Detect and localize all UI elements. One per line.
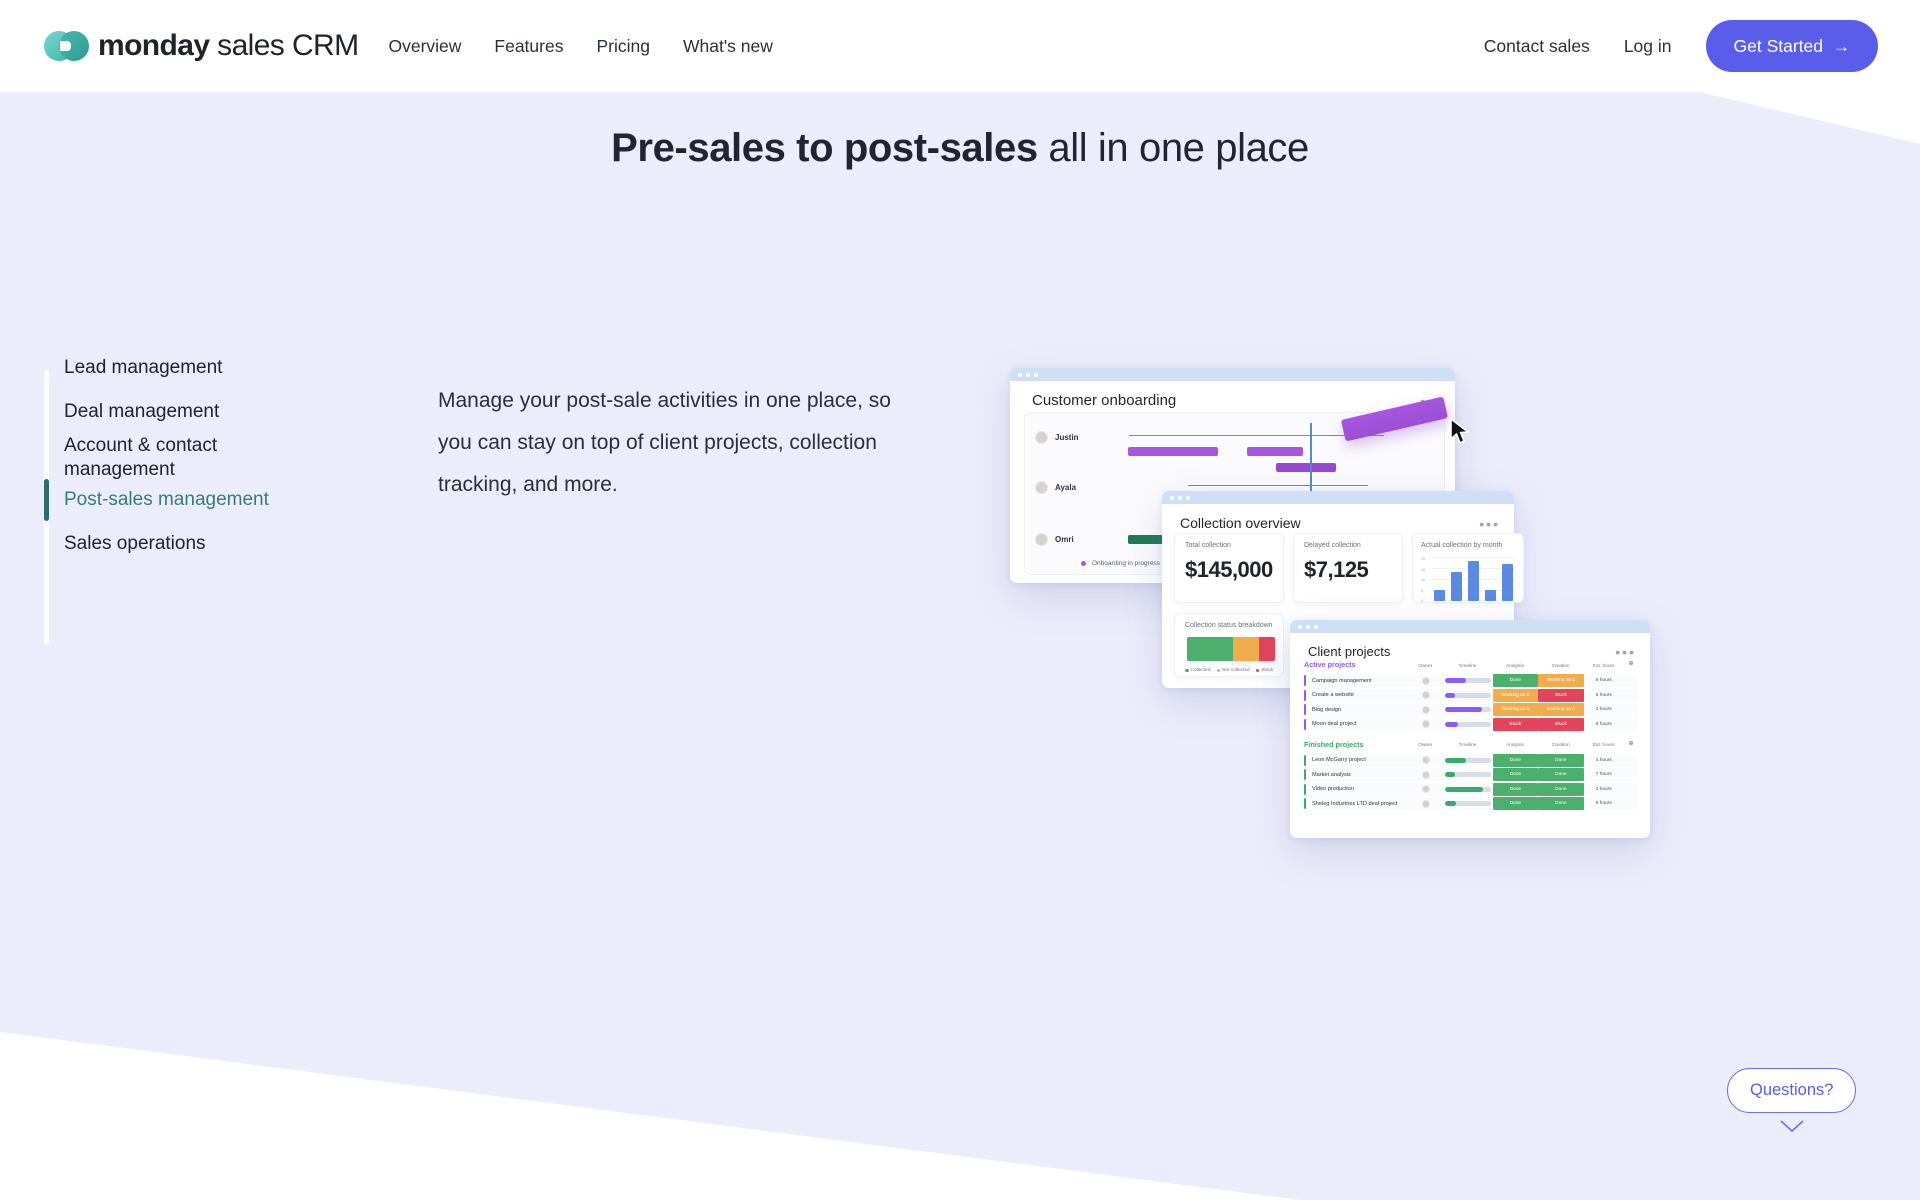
tab-label: Lead management [64, 357, 222, 378]
timeline-cell[interactable] [1443, 707, 1492, 712]
window-dots-icon [1170, 496, 1190, 500]
monday-logo-icon [44, 29, 90, 63]
window-dots-icon [1018, 373, 1038, 377]
gantt-row: Ayala [1035, 481, 1076, 494]
nav-item-pricing[interactable]: Pricing [596, 36, 650, 57]
stacked-bar [1187, 637, 1275, 661]
progress-track [1445, 787, 1491, 792]
creation-status-cell[interactable]: Stuck [1538, 689, 1584, 702]
nav-item-whats-new[interactable]: What's new [683, 36, 773, 57]
more-dots-icon[interactable]: ••• [1479, 516, 1500, 532]
chart-title: Actual collection by month [1421, 542, 1515, 549]
column-header: Analysis [1492, 740, 1538, 752]
creation-status-cell[interactable]: Stuck [1538, 718, 1584, 731]
legend-label: Stuck [1261, 668, 1273, 673]
progress-track [1445, 707, 1491, 712]
progress-fill [1445, 801, 1456, 806]
breakdown-title: Collection status breakdown [1185, 622, 1273, 629]
avatar-icon [1422, 800, 1430, 808]
legend-label: Collected [1191, 668, 1211, 673]
legend-label: Onboarding in progress [1092, 560, 1160, 567]
chart-bar [1434, 590, 1445, 601]
est-hours-cell: 2 hours [1584, 787, 1624, 792]
kpi-label: Total collection [1185, 542, 1273, 549]
progress-track [1445, 678, 1491, 683]
creation-status-cell[interactable]: Done [1538, 783, 1584, 796]
nav-item-features[interactable]: Features [494, 36, 563, 57]
column-header: Analysis [1492, 660, 1538, 672]
breakdown-legend: Collected Not collected Stuck [1185, 668, 1273, 673]
avatar-icon [1422, 691, 1430, 699]
column-header: Est. hours [1584, 660, 1624, 672]
row-owner-name: Ayala [1055, 483, 1076, 492]
kpi-value: $7,125 [1304, 557, 1392, 583]
column-header: Creation [1538, 740, 1584, 752]
avatar-icon [1035, 481, 1048, 494]
more-dots-icon[interactable]: ••• [1615, 644, 1636, 660]
project-name: Campaign management [1304, 678, 1408, 684]
progress-track [1445, 772, 1491, 777]
project-name: Video production [1304, 786, 1408, 792]
onboarding-legend: Onboarding in progress [1081, 560, 1171, 567]
timeline-cell[interactable] [1443, 772, 1492, 777]
progress-fill [1445, 707, 1482, 712]
gantt-bar[interactable] [1128, 447, 1218, 456]
questions-button[interactable]: Questions? [1727, 1068, 1856, 1113]
gantt-bar[interactable] [1247, 447, 1303, 456]
kpi-row: Total collection $145,000 Delayed collec… [1174, 533, 1524, 603]
table-row[interactable]: Moon deal projectStuckStuck8 hours [1304, 718, 1638, 731]
row-owner-name: Justin [1055, 433, 1079, 442]
chart-bars [1434, 557, 1513, 601]
page-root: monday sales CRM Overview Features Prici… [0, 0, 1920, 1200]
window-titlebar [1010, 368, 1455, 381]
owner-cell[interactable] [1408, 691, 1443, 699]
header-actions: Contact sales Log in Get Started → [1484, 20, 1878, 72]
chart-plot-area [1432, 557, 1515, 601]
window-titlebar [1162, 491, 1514, 504]
row-owner-name: Omri [1055, 535, 1074, 544]
gantt-guideline [1188, 485, 1368, 486]
progress-fill [1445, 787, 1483, 792]
table-row[interactable]: Blog designWorking on itWorking on it2 h… [1304, 703, 1638, 716]
creation-status-cell[interactable]: Done [1538, 768, 1584, 781]
y-tick-label: 5 [1421, 589, 1423, 593]
client-projects-card: Client projects ••• Active projectsOwner… [1290, 620, 1650, 838]
get-started-label: Get Started [1734, 36, 1824, 57]
legend-dot-purple-icon [1081, 561, 1086, 566]
kpi-monthly-collection-chart: Actual collection by month 20151050 [1412, 533, 1524, 603]
chart-bar [1451, 572, 1462, 601]
creation-status-cell[interactable]: Done [1538, 797, 1584, 810]
owner-cell[interactable] [1408, 785, 1443, 793]
tab-lead-management[interactable]: Lead management [44, 356, 374, 380]
legend-item: Stuck [1256, 668, 1274, 673]
gantt-bar[interactable] [1276, 463, 1336, 472]
tab-sales-operations[interactable]: Sales operations [44, 532, 374, 556]
tab-label: Post-sales management [64, 489, 269, 510]
projects-table: Active projectsOwnerTimelineAnalysisCrea… [1304, 660, 1638, 819]
y-tick-label: 10 [1421, 578, 1425, 582]
table-header-row: Finished projectsOwnerTimelineAnalysisCr… [1304, 740, 1638, 754]
arrow-right-icon: → [1833, 38, 1850, 55]
brand-logo[interactable]: monday sales CRM [44, 0, 358, 92]
analysis-status-cell[interactable]: Stuck [1493, 718, 1539, 731]
analysis-status-cell[interactable]: Done [1493, 754, 1539, 767]
row-accent [1304, 719, 1306, 730]
column-header: Owner [1408, 660, 1443, 672]
plus-circle-icon[interactable]: ⊕ [1624, 660, 1638, 672]
est-hours-cell: 5 hours [1584, 693, 1624, 698]
page-title-light: all in one place [1038, 126, 1309, 170]
analysis-status-cell[interactable]: Working on it [1493, 689, 1539, 702]
plus-circle-icon[interactable]: ⊕ [1624, 740, 1638, 752]
table-header-row: Active projectsOwnerTimelineAnalysisCrea… [1304, 660, 1638, 674]
owner-cell[interactable] [1408, 706, 1443, 714]
y-tick-label: 20 [1421, 557, 1425, 561]
column-header: Est. hours [1584, 740, 1624, 752]
progress-fill [1445, 772, 1455, 777]
progress-fill [1445, 693, 1455, 698]
kpi-delayed-collection: Delayed collection $7,125 [1293, 533, 1403, 603]
y-tick-label: 15 [1421, 568, 1425, 572]
kpi-collection-status-breakdown: Collection status breakdown Collected No… [1174, 613, 1284, 677]
card-title: Customer onboarding [1032, 392, 1176, 409]
timeline-cell[interactable] [1443, 801, 1492, 806]
analysis-status-cell[interactable]: Done [1493, 783, 1539, 796]
window-titlebar [1290, 620, 1650, 633]
column-header: Timeline [1443, 740, 1492, 752]
log-in-link[interactable]: Log in [1624, 36, 1672, 57]
table-row[interactable]: Market analysisDoneDone7 hours [1304, 768, 1638, 781]
bar-chart: 20151050 [1421, 557, 1515, 601]
column-header: Owner [1408, 740, 1443, 752]
est-hours-cell: 6 hours [1584, 678, 1624, 683]
gantt-row: Omri [1035, 533, 1074, 546]
timeline-cell[interactable] [1443, 722, 1492, 727]
avatar-icon [1035, 533, 1048, 546]
table-row[interactable]: Campaign managementDoneWorking on it6 ho… [1304, 674, 1638, 687]
page-title: Pre-sales to post-sales all in one place [0, 126, 1920, 171]
est-hours-cell: 2 hours [1584, 707, 1624, 712]
tab-post-sales-management[interactable]: Post-sales management [44, 488, 374, 512]
est-hours-cell: 8 hours [1584, 722, 1624, 727]
get-started-button[interactable]: Get Started → [1706, 20, 1879, 72]
owner-cell[interactable] [1408, 800, 1443, 808]
group-title: Finished projects [1304, 740, 1408, 749]
progress-fill [1445, 722, 1458, 727]
row-accent [1304, 784, 1306, 795]
project-name: Market analysis [1304, 772, 1408, 778]
progress-fill [1445, 758, 1466, 763]
legend-item: Collected [1185, 668, 1211, 673]
creation-status-cell[interactable]: Done [1538, 754, 1584, 767]
est-hours-cell: 4 hours [1584, 758, 1624, 763]
tab-label: Deal management [64, 401, 219, 422]
feature-description: Manage your post-sale activities in one … [438, 380, 908, 506]
stacked-segment-collected [1187, 637, 1233, 661]
avatar-icon [1422, 706, 1430, 714]
row-accent [1304, 690, 1306, 701]
timeline-cell[interactable] [1443, 693, 1492, 698]
analysis-status-cell[interactable]: Done [1493, 674, 1539, 687]
kpi-value: $145,000 [1185, 557, 1273, 583]
tab-account-contact-management[interactable]: Account & contact management [44, 434, 274, 483]
stacked-segment-not-collected [1233, 637, 1259, 661]
avatar-icon [1422, 756, 1430, 764]
project-name: Create a website [1304, 692, 1408, 698]
owner-cell[interactable] [1408, 771, 1443, 779]
timeline-cell[interactable] [1443, 678, 1492, 683]
progress-fill [1445, 678, 1466, 683]
project-name: Blog design [1304, 707, 1408, 713]
owner-cell[interactable] [1408, 720, 1443, 728]
row-accent [1304, 675, 1306, 686]
creation-status-cell[interactable]: Working on it [1538, 703, 1584, 716]
avatar-icon [1035, 431, 1048, 444]
chevron-down-icon[interactable] [1779, 1119, 1805, 1133]
avatar-icon [1422, 771, 1430, 779]
analysis-status-cell[interactable]: Done [1493, 768, 1539, 781]
table-row[interactable]: Sheleg Industries LTD deal projectDoneDo… [1304, 797, 1638, 810]
progress-track [1445, 758, 1491, 763]
owner-cell[interactable] [1408, 677, 1443, 685]
tab-deal-management[interactable]: Deal management [44, 400, 374, 424]
legend-label: Not collected [1222, 668, 1250, 673]
kpi-label: Delayed collection [1304, 542, 1392, 549]
brand-name-bold: monday [98, 29, 209, 62]
avatar-icon [1422, 785, 1430, 793]
card-title: Client projects [1308, 644, 1390, 659]
breakdown-row: Collection status breakdown Collected No… [1174, 613, 1284, 677]
row-accent [1304, 704, 1306, 715]
chart-bar [1468, 561, 1479, 601]
est-hours-cell: 7 hours [1584, 772, 1624, 777]
chat-widget: Questions? [1727, 1068, 1856, 1133]
project-name: Moon deal project [1304, 721, 1408, 727]
analysis-status-cell[interactable]: Done [1493, 797, 1539, 810]
progress-track [1445, 693, 1491, 698]
group-title: Active projects [1304, 660, 1408, 669]
stacked-segment-stuck [1259, 637, 1275, 661]
column-header: Creation [1538, 660, 1584, 672]
progress-track [1445, 722, 1491, 727]
site-header: monday sales CRM Overview Features Prici… [0, 0, 1920, 92]
window-dots-icon [1298, 625, 1318, 629]
card-title: Collection overview [1180, 515, 1301, 531]
est-hours-cell: 9 hours [1584, 801, 1624, 806]
avatar-icon [1422, 720, 1430, 728]
row-accent [1304, 769, 1306, 780]
gantt-row: Justin [1035, 431, 1079, 444]
project-name: Sheleg Industries LTD deal project [1304, 801, 1408, 807]
creation-status-cell[interactable]: Working on it [1538, 674, 1584, 687]
timeline-cell[interactable] [1443, 787, 1492, 792]
owner-cell[interactable] [1408, 756, 1443, 764]
nav-item-overview[interactable]: Overview [388, 36, 461, 57]
project-group: Active projectsOwnerTimelineAnalysisCrea… [1304, 660, 1638, 731]
mouse-cursor-icon [1450, 418, 1472, 446]
brand-name: monday sales CRM [98, 29, 358, 63]
tab-label: Sales operations [64, 533, 206, 554]
project-group: Finished projectsOwnerTimelineAnalysisCr… [1304, 740, 1638, 811]
page-title-strong: Pre-sales to post-sales [611, 126, 1038, 170]
timeline-cell[interactable] [1443, 758, 1492, 763]
chart-bar [1502, 564, 1513, 601]
row-accent [1304, 755, 1306, 766]
avatar-icon [1422, 677, 1430, 685]
chart-bar [1485, 590, 1496, 601]
kpi-total-collection: Total collection $145,000 [1174, 533, 1284, 603]
row-accent [1304, 798, 1306, 809]
project-name: Leon McGarry project [1304, 757, 1408, 763]
analysis-status-cell[interactable]: Working on it [1493, 703, 1539, 716]
progress-track [1445, 801, 1491, 806]
main-nav: Overview Features Pricing What's new [388, 36, 772, 57]
table-row[interactable]: Create a websiteWorking on itStuck5 hour… [1304, 689, 1638, 702]
legend-item: Not collected [1217, 668, 1250, 673]
y-axis-ticks: 20151050 [1421, 557, 1430, 601]
product-illustration: Customer onboarding ••• Justin Ayala [1010, 368, 1800, 968]
brand-name-light: sales CRM [217, 29, 358, 62]
tab-label: Account & contact management [64, 435, 217, 480]
contact-sales-link[interactable]: Contact sales [1484, 36, 1590, 57]
y-tick-label: 0 [1421, 599, 1423, 603]
column-header: Timeline [1443, 660, 1492, 672]
table-row[interactable]: Video productionDoneDone2 hours [1304, 783, 1638, 796]
table-row[interactable]: Leon McGarry projectDoneDone4 hours [1304, 754, 1638, 767]
